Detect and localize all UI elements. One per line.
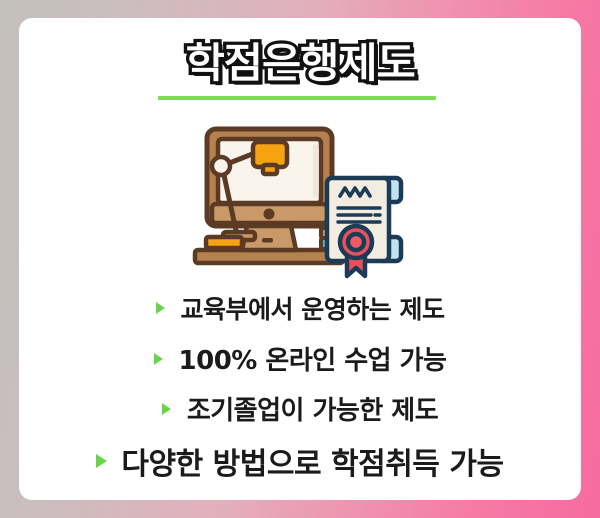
list-item-label: 조기졸업이 가능한 제도 <box>187 390 438 427</box>
page-title: 학점은행제도 <box>19 42 581 85</box>
triangle-bullet-icon <box>156 302 165 314</box>
hero-illustration <box>175 122 425 282</box>
page-title-text: 학점은행제도 <box>185 42 414 85</box>
gradient-frame: 학점은행제도 <box>0 0 600 518</box>
triangle-bullet-icon <box>162 403 171 415</box>
list-item: 교육부에서 운영하는 제도 <box>19 290 581 326</box>
list-item: 100% 온라인 수업 가능 <box>19 340 581 377</box>
title-underline <box>158 96 436 100</box>
list-item-label: 다양한 방법으로 학점취득 가능 <box>121 439 503 483</box>
list-item-label: 100% 온라인 수업 가능 <box>179 340 447 377</box>
content-card: 학점은행제도 <box>19 18 581 500</box>
triangle-bullet-icon <box>96 454 107 468</box>
certificate-icon <box>327 178 401 276</box>
list-item-label: 교육부에서 운영하는 제도 <box>181 290 445 326</box>
list-item: 다양한 방법으로 학점취득 가능 <box>19 439 581 483</box>
book-icon <box>206 237 242 248</box>
list-item: 조기졸업이 가능한 제도 <box>19 390 581 427</box>
feature-list: 교육부에서 운영하는 제도 100% 온라인 수업 가능 조기졸업이 가능한 제… <box>19 290 581 483</box>
triangle-bullet-icon <box>154 353 163 365</box>
